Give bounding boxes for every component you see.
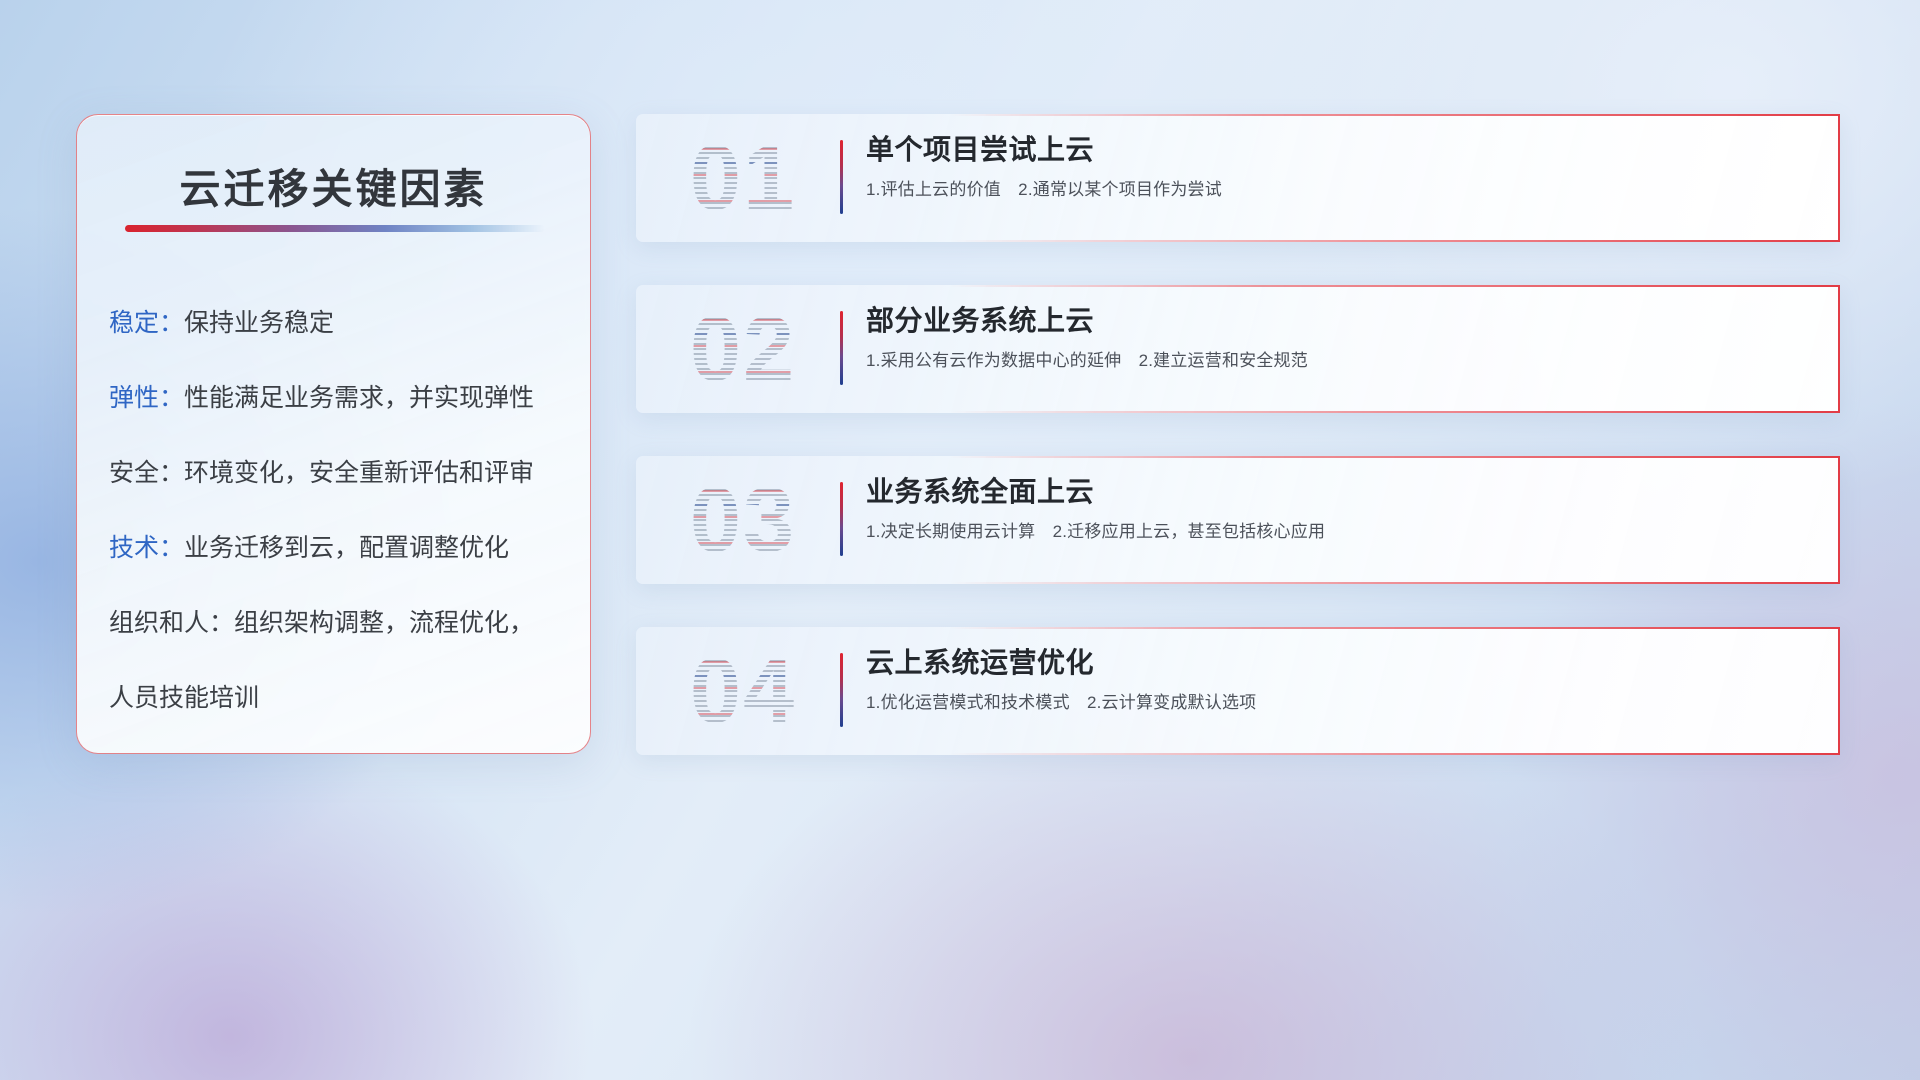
card-accent-edge-top	[949, 114, 1840, 116]
card-accent-edge-bottom	[949, 582, 1840, 584]
card-body: 业务系统全面上云 1.决定长期使用云计算 2.迁移应用上云，甚至包括核心应用	[866, 476, 1810, 543]
factor-value: 人员技能培训	[109, 684, 259, 712]
card-accent-edge-bottom	[949, 753, 1840, 755]
stage-card-02[interactable]: 02 02 部分业务系统上云 1.采用公有云作为数据中心的延伸 2.建立运营和安…	[636, 285, 1840, 413]
card-accent-edge-right	[1838, 627, 1840, 755]
step-number: 03	[658, 464, 828, 576]
card-accent-edge-right	[1838, 285, 1840, 413]
factor-item-organization-cont: 人员技能培训	[109, 686, 566, 711]
title-underline-accent	[125, 225, 545, 232]
card-divider-accent	[840, 482, 843, 556]
stage-card-04[interactable]: 04 04 云上系统运营优化 1.优化运营模式和技术模式 2.云计算变成默认选项	[636, 627, 1840, 755]
factor-item-stability: 稳定：保持业务稳定	[109, 311, 566, 336]
factor-label: 组织和人：	[109, 609, 234, 637]
factor-item-technology: 技术：业务迁移到云，配置调整优化	[109, 536, 566, 561]
card-body: 云上系统运营优化 1.优化运营模式和技术模式 2.云计算变成默认选项	[866, 647, 1810, 714]
card-body: 部分业务系统上云 1.采用公有云作为数据中心的延伸 2.建立运营和安全规范	[866, 305, 1810, 372]
card-accent-edge-top	[949, 627, 1840, 629]
factor-value: 环境变化，安全重新评估和评审	[184, 459, 534, 487]
key-factors-panel: 云迁移关键因素 稳定：保持业务稳定 弹性：性能满足业务需求，并实现弹性 安全：环…	[76, 114, 591, 754]
step-number: 02	[658, 293, 828, 405]
card-accent-edge-bottom	[949, 240, 1840, 242]
factor-item-elasticity: 弹性：性能满足业务需求，并实现弹性	[109, 386, 566, 411]
card-subtitle: 1.评估上云的价值 2.通常以某个项目作为尝试	[866, 180, 1810, 200]
card-accent-edge-right	[1838, 114, 1840, 242]
card-subtitle: 1.决定长期使用云计算 2.迁移应用上云，甚至包括核心应用	[866, 522, 1810, 542]
card-subtitle: 1.采用公有云作为数据中心的延伸 2.建立运营和安全规范	[866, 351, 1810, 371]
stage-card-list: 01 01 单个项目尝试上云 1.评估上云的价值 2.通常以某个项目作为尝试 0…	[636, 114, 1840, 755]
stage-card-03[interactable]: 03 03 业务系统全面上云 1.决定长期使用云计算 2.迁移应用上云，甚至包括…	[636, 456, 1840, 584]
card-accent-edge-top	[949, 285, 1840, 287]
card-accent-edge-bottom	[949, 411, 1840, 413]
card-divider-accent	[840, 140, 843, 214]
step-number: 04	[658, 635, 828, 747]
card-title: 云上系统运营优化	[866, 647, 1810, 679]
factor-item-security: 安全：环境变化，安全重新评估和评审	[109, 461, 566, 486]
factor-label: 安全：	[109, 459, 184, 487]
factor-value: 业务迁移到云，配置调整优化	[184, 534, 509, 562]
factor-label: 弹性：	[109, 384, 184, 412]
card-accent-edge-top	[949, 456, 1840, 458]
card-title: 单个项目尝试上云	[866, 134, 1810, 166]
step-number: 01	[658, 122, 828, 234]
card-title: 业务系统全面上云	[866, 476, 1810, 508]
card-divider-accent	[840, 311, 843, 385]
card-title: 部分业务系统上云	[866, 305, 1810, 337]
stage-card-01[interactable]: 01 01 单个项目尝试上云 1.评估上云的价值 2.通常以某个项目作为尝试	[636, 114, 1840, 242]
card-divider-accent	[840, 653, 843, 727]
factor-label: 稳定：	[109, 309, 184, 337]
card-body: 单个项目尝试上云 1.评估上云的价值 2.通常以某个项目作为尝试	[866, 134, 1810, 201]
factor-value: 组织架构调整，流程优化，	[234, 609, 534, 637]
factor-item-organization: 组织和人：组织架构调整，流程优化，	[109, 611, 566, 636]
card-accent-edge-right	[1838, 456, 1840, 584]
factor-value: 性能满足业务需求，并实现弹性	[184, 384, 534, 412]
factor-label: 技术：	[109, 534, 184, 562]
slide-canvas: 云迁移关键因素 稳定：保持业务稳定 弹性：性能满足业务需求，并实现弹性 安全：环…	[0, 0, 1920, 1080]
factor-value: 保持业务稳定	[184, 309, 334, 337]
factor-list: 稳定：保持业务稳定 弹性：性能满足业务需求，并实现弹性 安全：环境变化，安全重新…	[109, 311, 566, 711]
page-title: 云迁移关键因素	[77, 155, 590, 215]
card-subtitle: 1.优化运营模式和技术模式 2.云计算变成默认选项	[866, 693, 1810, 713]
